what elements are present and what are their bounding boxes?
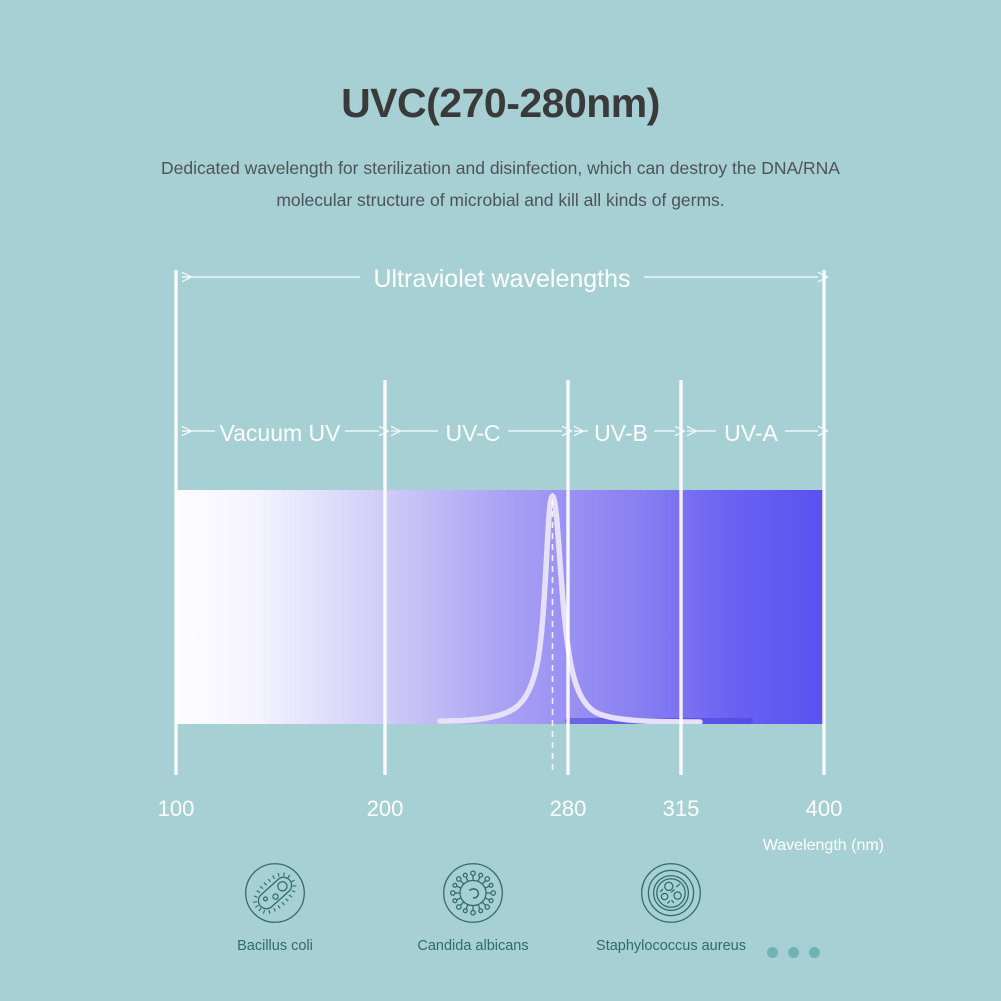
germ-list: Bacillus coli xyxy=(176,862,824,982)
germ-name: Candida albicans xyxy=(393,937,553,955)
x-tick-label-100: 100 xyxy=(158,796,195,821)
band-label-uv-a: UV-A xyxy=(724,420,778,446)
more-indicator-dots[interactable] xyxy=(765,947,845,963)
candida-spiky-icon xyxy=(442,862,504,924)
infographic-canvas: UVC(270-280nm) Dedicated wavelength for … xyxy=(0,0,1001,1001)
x-tick-label-200: 200 xyxy=(367,796,404,821)
germ-name: Staphylococcus aureus xyxy=(591,937,751,955)
chart-title: Ultraviolet wavelengths xyxy=(373,265,630,293)
x-tick-label-400: 400 xyxy=(806,796,843,821)
dot-2 xyxy=(788,947,799,958)
dot-3 xyxy=(809,947,820,958)
list-item[interactable]: Staphylococcus aureus xyxy=(591,862,751,955)
x-tick-label-315: 315 xyxy=(663,796,700,821)
bacillus-rod-icon xyxy=(244,862,306,924)
list-item[interactable]: Candida albicans xyxy=(393,862,553,955)
uv-spectrum-chart: Ultraviolet wavelengths Vacuum UV UV-C U… xyxy=(0,0,1001,1001)
spectrum-gradient-band xyxy=(176,490,824,724)
band-label-uv-b: UV-B xyxy=(594,420,648,446)
list-item[interactable]: Bacillus coli xyxy=(195,862,355,955)
staphylococcus-cell-icon xyxy=(640,862,702,924)
band-label-vacuum-uv: Vacuum UV xyxy=(219,420,341,446)
x-axis-title: Wavelength (nm) xyxy=(763,837,884,854)
dot-1 xyxy=(767,947,778,958)
x-tick-label-280: 280 xyxy=(550,796,587,821)
band-label-uv-c: UV-C xyxy=(446,420,501,446)
germ-name: Bacillus coli xyxy=(195,937,355,955)
